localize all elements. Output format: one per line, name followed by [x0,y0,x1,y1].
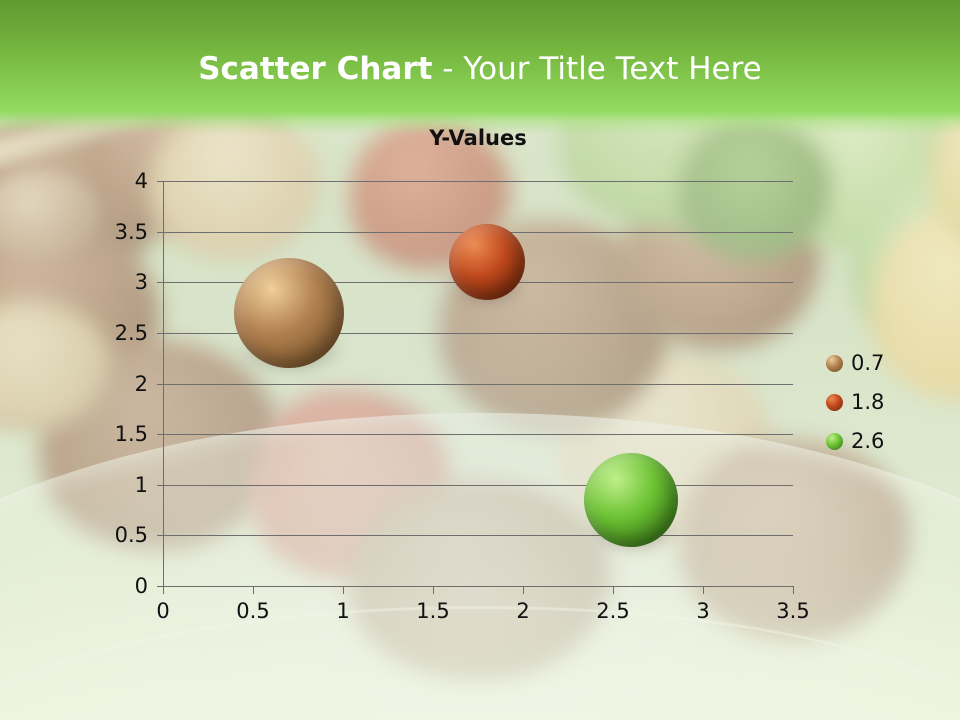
legend-marker-icon [826,394,843,411]
x-tick-mark [523,586,524,594]
chart-legend: 0.71.82.6 [826,344,946,461]
x-tick-mark [793,586,794,594]
y-tick-mark [157,485,163,486]
scatter-chart: Y-Values 00.511.522.533.54 00.511.522.53… [0,0,960,720]
legend-label: 2.6 [851,431,884,452]
x-tick-mark [163,586,164,594]
chart-title: Y-Values [163,126,793,150]
legend-label: 1.8 [851,392,884,413]
x-tick-label: 3.5 [763,599,823,623]
slide-canvas: Scatter Chart - Your Title Text Here Y-V… [0,0,960,720]
gridline [163,485,793,486]
y-tick-mark [157,384,163,385]
legend-marker-icon [826,433,843,450]
gridline [163,181,793,182]
y-tick-label: 2 [88,372,148,396]
y-tick-label: 2.5 [88,321,148,345]
x-tick-label: 1.5 [403,599,463,623]
bubble-sphere [584,453,678,547]
x-tick-label: 3 [673,599,733,623]
y-tick-label: 1.5 [88,422,148,446]
gridline [163,434,793,435]
data-point-bubble[interactable] [234,258,344,368]
y-tick-label: 0.5 [88,523,148,547]
y-tick-label: 4 [88,169,148,193]
legend-entry[interactable]: 1.8 [826,383,946,422]
x-tick-label: 0 [133,599,193,623]
plot-area: 00.511.522.533.54 00.511.522.533.5 [163,181,793,586]
x-tick-label: 2.5 [583,599,643,623]
y-tick-label: 1 [88,473,148,497]
legend-entry[interactable]: 0.7 [826,344,946,383]
data-point-bubble[interactable] [449,224,525,300]
gridline [163,535,793,536]
x-tick-label: 1 [313,599,373,623]
y-tick-mark [157,535,163,536]
data-point-bubble[interactable] [584,453,678,547]
legend-marker-icon [826,355,843,372]
y-tick-mark [157,181,163,182]
x-tick-mark [703,586,704,594]
y-tick-mark [157,333,163,334]
y-tick-label: 3 [88,270,148,294]
y-tick-mark [157,282,163,283]
x-tick-mark [433,586,434,594]
bubble-sphere [234,258,344,368]
gridline [163,384,793,385]
x-tick-label: 2 [493,599,553,623]
y-tick-label: 3.5 [88,220,148,244]
x-tick-mark [343,586,344,594]
bubble-sphere [449,224,525,300]
x-tick-label: 0.5 [223,599,283,623]
y-tick-mark [157,232,163,233]
y-tick-label: 0 [88,574,148,598]
y-tick-mark [157,434,163,435]
x-tick-mark [253,586,254,594]
gridline [163,586,793,587]
legend-label: 0.7 [851,353,884,374]
legend-entry[interactable]: 2.6 [826,422,946,461]
x-tick-mark [613,586,614,594]
